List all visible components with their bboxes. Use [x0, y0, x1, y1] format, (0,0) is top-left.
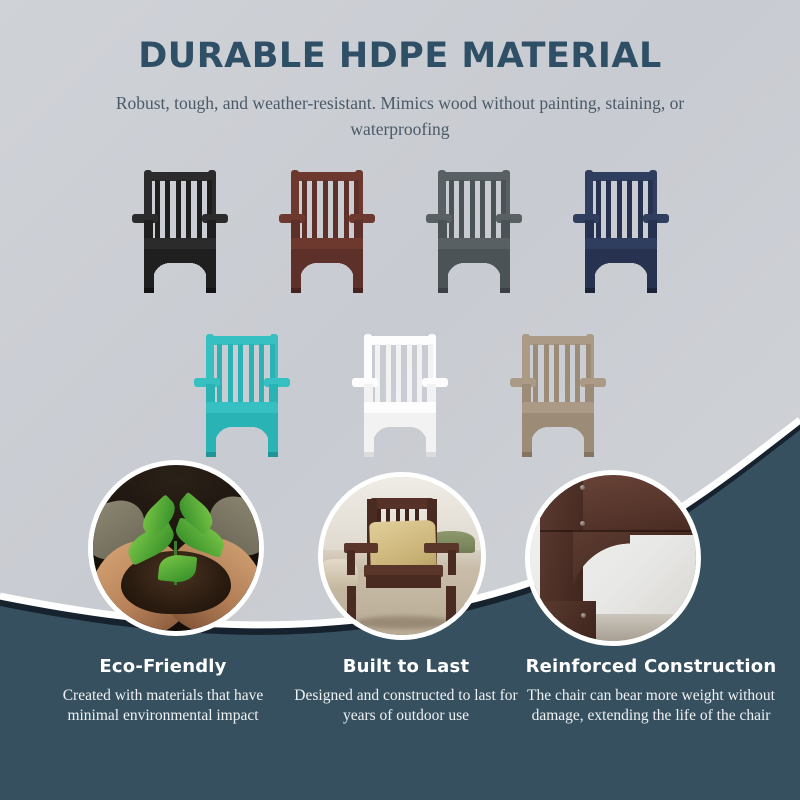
feature-image-reinforced-construction	[525, 470, 701, 646]
feature-heading: Reinforced Construction	[520, 656, 782, 677]
feature-heading: Built to Last	[290, 656, 522, 677]
chair-swatch-row-1	[0, 168, 800, 293]
brown-chair-with-cushion-icon	[323, 477, 481, 635]
page-title: DURABLE HDPE MATERIAL	[0, 36, 800, 76]
reinforced-corner-bracket-icon	[530, 475, 696, 641]
feature-reinforced-construction: Reinforced Construction The chair can be…	[520, 656, 782, 726]
chair-swatch-brown[interactable]	[277, 168, 377, 293]
chair-swatch-navy-blue[interactable]	[571, 168, 671, 293]
seedling-in-hands-icon	[93, 465, 259, 631]
feature-image-built-to-last	[318, 472, 486, 640]
feature-image-eco-friendly	[88, 460, 264, 636]
feature-heading: Eco-Friendly	[38, 656, 288, 677]
chair-swatch-dark-gray[interactable]	[424, 168, 524, 293]
infographic-canvas: DURABLE HDPE MATERIAL Robust, tough, and…	[0, 0, 800, 800]
feature-body: The chair can bear more weight without d…	[520, 686, 782, 726]
feature-body: Created with materials that have minimal…	[38, 686, 288, 726]
feature-eco-friendly: Eco-Friendly Created with materials that…	[38, 656, 288, 726]
chair-swatch-black[interactable]	[130, 168, 230, 293]
feature-built-to-last: Built to Last Designed and constructed t…	[290, 656, 522, 726]
page-subtitle: Robust, tough, and weather-resistant. Mi…	[100, 90, 700, 142]
feature-body: Designed and constructed to last for yea…	[290, 686, 522, 726]
